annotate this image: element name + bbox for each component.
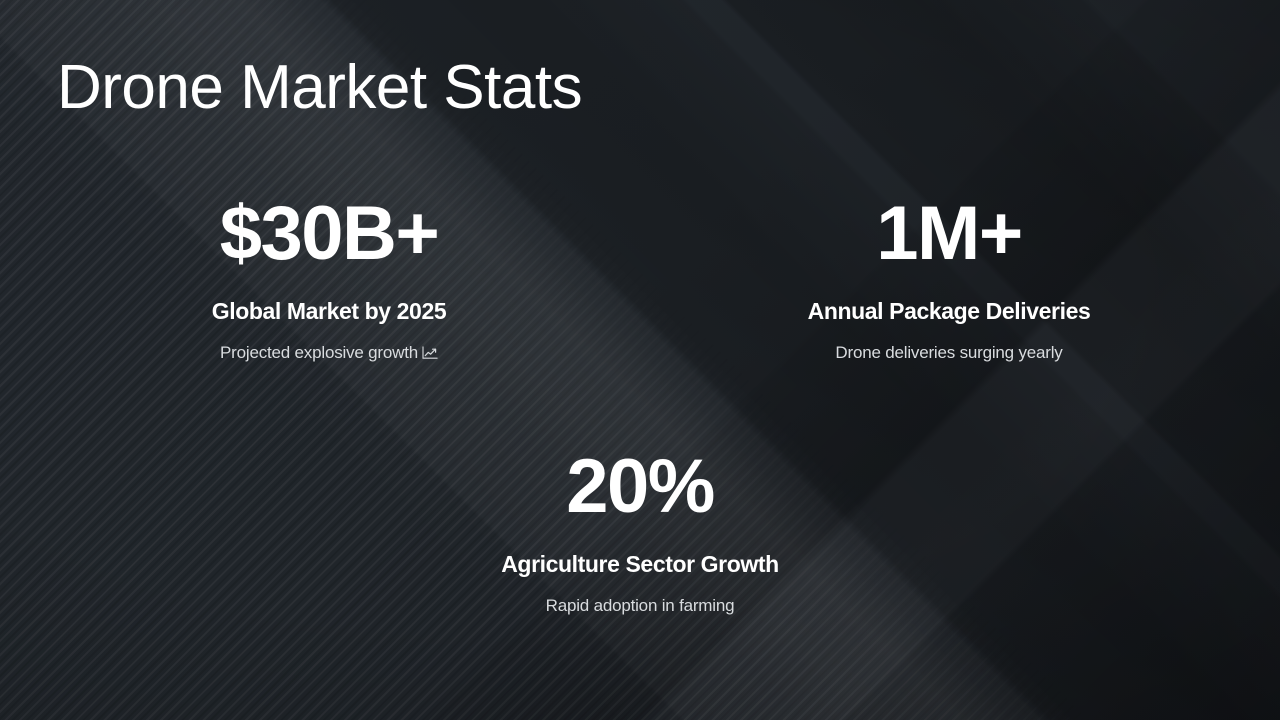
stat-description: Drone deliveries surging yearly	[729, 343, 1169, 363]
stat-label: Annual Package Deliveries	[729, 298, 1169, 326]
stat-value: 1M+	[729, 196, 1169, 272]
stat-label: Global Market by 2025	[109, 298, 549, 326]
stat-block-global-market: $30B+ Global Market by 2025 Projected ex…	[109, 196, 549, 363]
stat-description: Projected explosive growth	[220, 343, 418, 362]
stat-description: Rapid adoption in farming	[420, 596, 860, 616]
slide-title: Drone Market Stats	[57, 55, 582, 120]
stat-block-package-deliveries: 1M+ Annual Package Deliveries Drone deli…	[729, 196, 1169, 363]
chart-increasing-icon	[422, 346, 438, 360]
presentation-slide: Drone Market Stats $30B+ Global Market b…	[0, 0, 1280, 720]
stat-value: 20%	[420, 449, 860, 525]
stat-value: $30B+	[109, 196, 549, 272]
slide-content: Drone Market Stats $30B+ Global Market b…	[0, 0, 1280, 720]
stat-block-agriculture-growth: 20% Agriculture Sector Growth Rapid adop…	[420, 449, 860, 616]
stat-label: Agriculture Sector Growth	[420, 551, 860, 579]
stat-description-row: Projected explosive growth	[109, 343, 549, 363]
